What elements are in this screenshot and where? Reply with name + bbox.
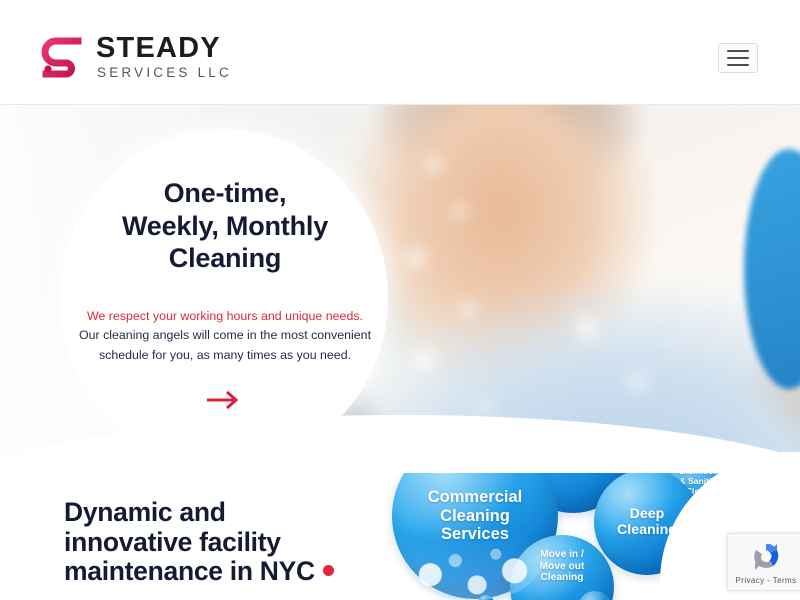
hero-subtitle-rest: Our cleaning angels will come in the mos… (79, 328, 371, 361)
hero-subtitle: We respect your working hours and unique… (64, 307, 386, 365)
service-bubble-label: Deep Cleaning (617, 506, 677, 538)
hero-title-line-2: Weekly, Monthly (122, 211, 328, 241)
lower-copy-block: Dynamic and innovative facility maintena… (64, 498, 394, 600)
recaptcha-privacy-terms[interactable]: Privacy - Terms (736, 576, 797, 585)
hamburger-line-1 (727, 50, 749, 52)
page-root: STEADY SERVICES LLC One-time, Weekly, Mo… (0, 0, 800, 600)
recaptcha-logo-icon (749, 540, 783, 574)
recaptcha-badge[interactable]: Privacy - Terms (727, 533, 800, 591)
hero-section: One-time, Weekly, Monthly Cleaning We re… (0, 105, 800, 473)
hero-title-line-3: Cleaning (169, 243, 281, 273)
hamburger-line-3 (727, 64, 749, 66)
logo-main-text: STEADY (96, 34, 232, 63)
lower-title-line-3: maintenance in NYC (64, 556, 315, 586)
logo-wordmark: STEADY SERVICES LLC (96, 34, 232, 80)
service-bubble-label: Office Cleaning Services (543, 473, 603, 476)
arrow-right-icon[interactable] (203, 387, 247, 413)
steady-s-monogram-icon (40, 36, 84, 78)
hero-title-line-1: One-time, (164, 178, 287, 208)
hero-subtitle-accent: We respect your working hours and unique… (64, 307, 386, 326)
logo-sub-text: SERVICES LLC (96, 66, 232, 80)
hero-title: One-time, Weekly, Monthly Cleaning (64, 177, 386, 275)
hero-copy-block: One-time, Weekly, Monthly Cleaning We re… (64, 177, 386, 418)
lower-title-line-2: innovative facility (64, 527, 281, 557)
lower-title-line-1: Dynamic and (64, 497, 226, 527)
site-logo[interactable]: STEADY SERVICES LLC (40, 34, 232, 80)
service-bubble-label: Move in / Move out Cleaning (540, 549, 585, 584)
service-bubble-label: Commercial Cleaning Services (428, 488, 522, 544)
hamburger-menu-icon[interactable] (718, 43, 758, 73)
hamburger-line-2 (727, 57, 749, 59)
lower-title: Dynamic and innovative facility maintena… (64, 498, 394, 587)
title-accent-dot (323, 565, 334, 576)
site-header: STEADY SERVICES LLC (0, 0, 800, 105)
